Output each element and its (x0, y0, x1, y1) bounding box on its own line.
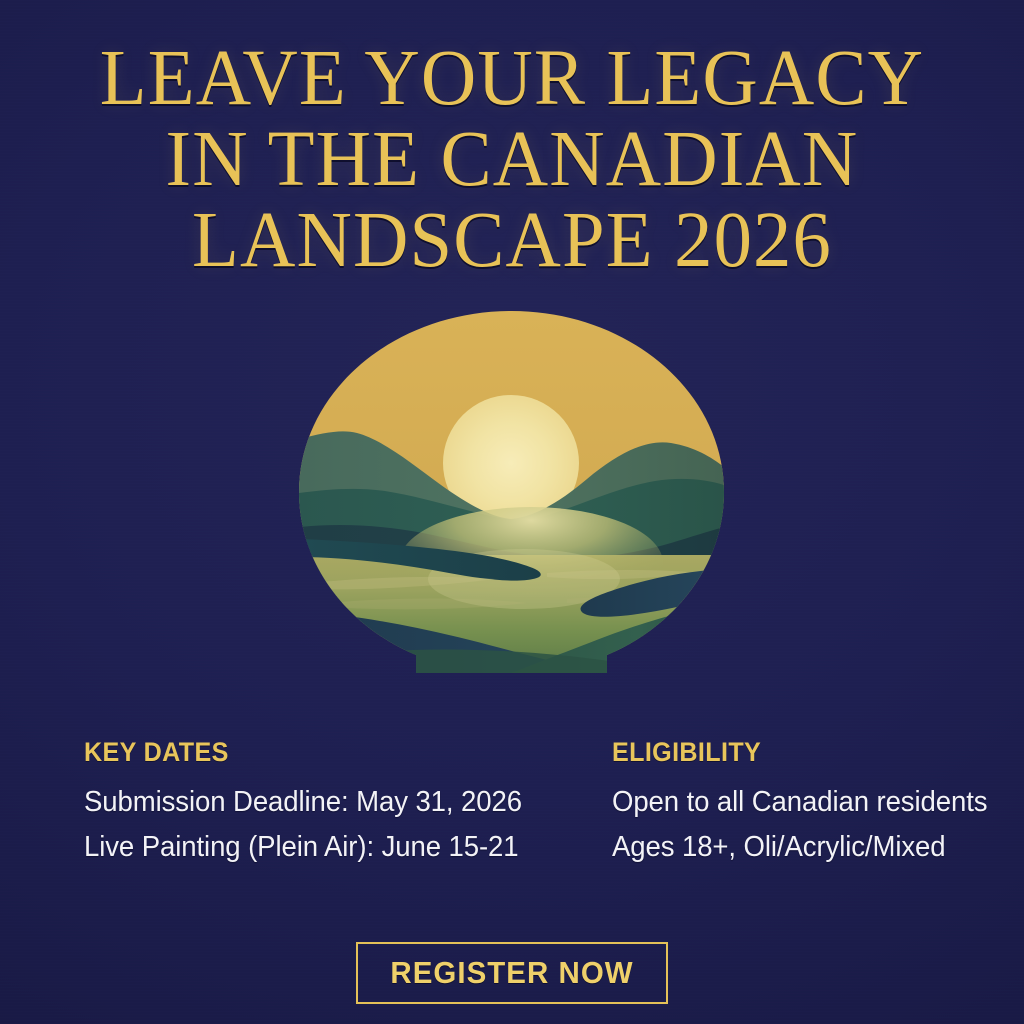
title-line-3: Landscape 2026 (15, 200, 1008, 281)
key-dates-line-2: Live Painting (Plein Air): June 15-21 (84, 825, 559, 870)
eligibility-line-2: Ages 18+, Oli/Acrylic/Mixed (612, 825, 992, 870)
key-dates-section: KEY DATES Submission Deadline: May 31, 2… (84, 737, 584, 870)
eligibility-section: ELIGIBILITY Open to all Canadian residen… (612, 737, 1012, 870)
register-now-button[interactable]: REGISTER NOW (356, 942, 668, 1004)
title-line-1: Leave Your Legacy (15, 38, 1008, 119)
title-line-2: In The Canadian (15, 119, 1008, 200)
eligibility-line-1: Open to all Canadian residents (612, 780, 992, 825)
page-title: Leave Your Legacy In The Canadian Landsc… (0, 38, 1024, 281)
eligibility-heading: ELIGIBILITY (612, 737, 984, 767)
key-dates-heading: KEY DATES (84, 737, 549, 767)
circular-sunrise-landscape-illustration (299, 311, 724, 673)
register-now-label: REGISTER NOW (390, 955, 633, 991)
key-dates-line-1: Submission Deadline: May 31, 2026 (84, 780, 559, 825)
poster-canvas: Leave Your Legacy In The Canadian Landsc… (0, 0, 1024, 1024)
